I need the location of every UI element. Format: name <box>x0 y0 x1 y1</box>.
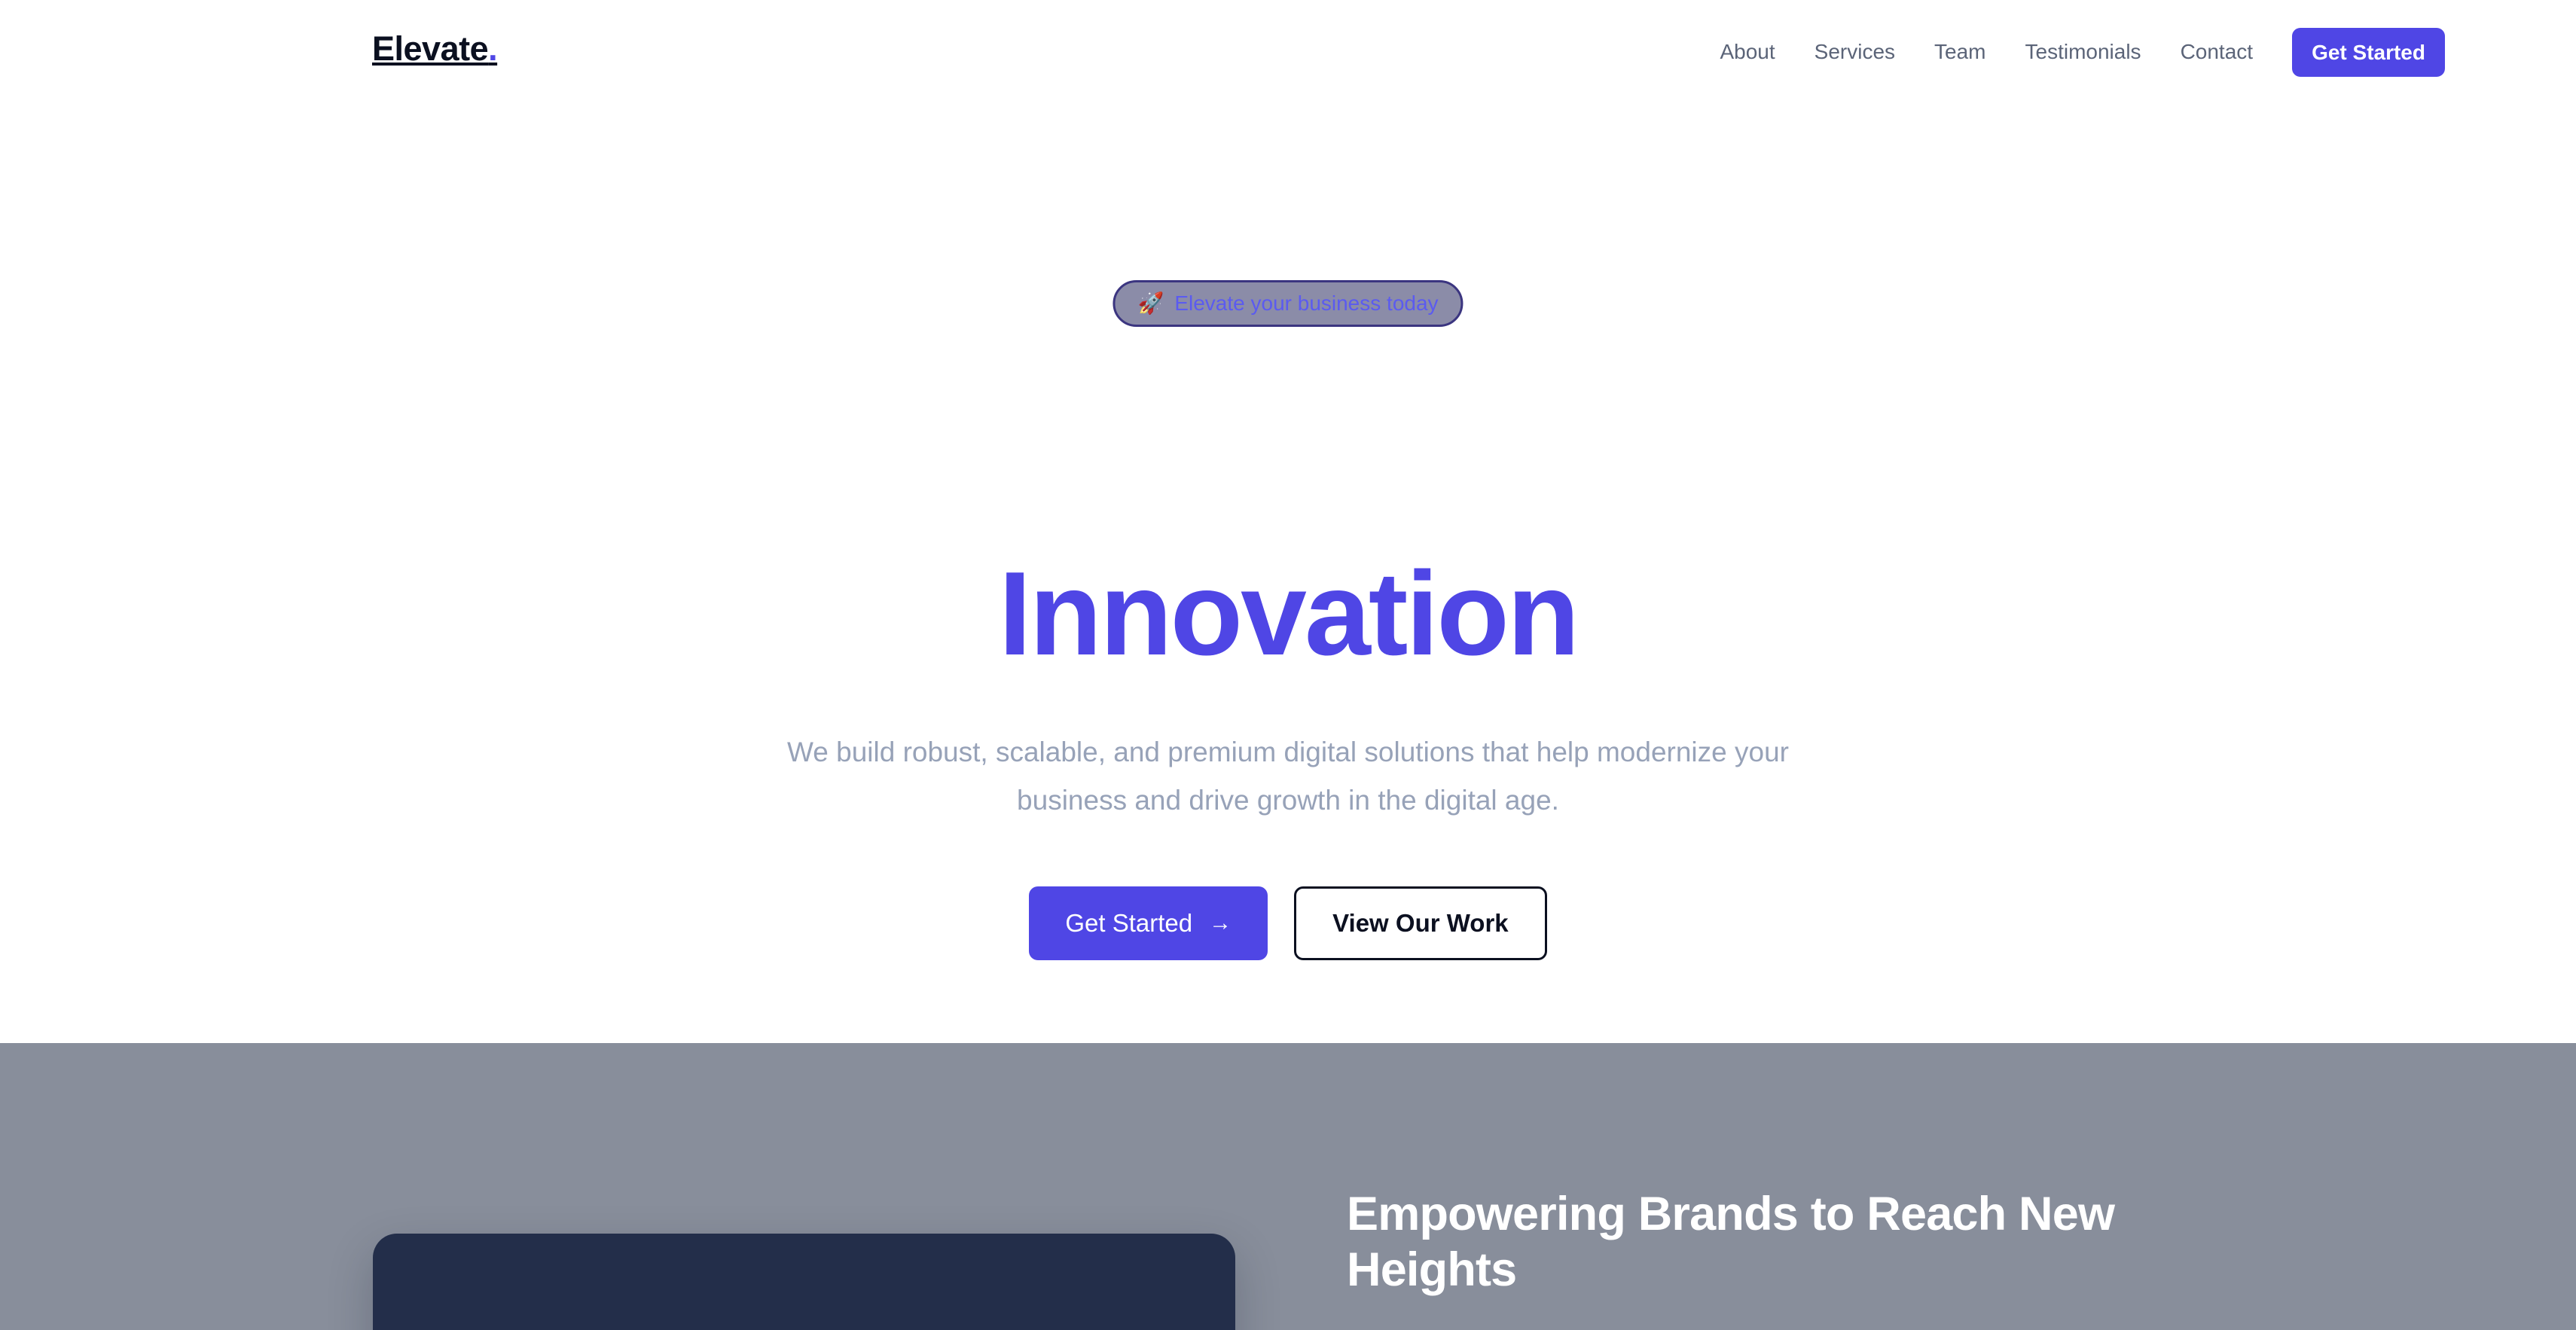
feature-media-card <box>373 1234 1235 1330</box>
hero-badge-label: Elevate your business today <box>1174 293 1438 314</box>
hero-view-our-work-button[interactable]: View Our Work <box>1294 886 1547 960</box>
landing-page: Elevate. About Services Team Testimonial… <box>0 0 2576 1330</box>
nav-item-about[interactable]: About <box>1700 26 1794 78</box>
header-get-started-button[interactable]: Get Started <box>2292 28 2445 77</box>
brand-logo[interactable]: Elevate. <box>372 32 497 66</box>
hero-actions: Get Started → View Our Work <box>0 886 2576 960</box>
site-header: Elevate. About Services Team Testimonial… <box>0 0 2576 114</box>
brand-dot: . <box>488 29 497 68</box>
nav-item-services[interactable]: Services <box>1795 26 1915 78</box>
hero-get-started-label: Get Started <box>1065 909 1192 938</box>
brand-name: Elevate <box>372 29 488 68</box>
feature-copy: Empowering Brands to Reach New Heights <box>1347 1186 2288 1298</box>
hero-title: Innovation <box>0 551 2576 677</box>
nav-item-contact[interactable]: Contact <box>2161 26 2273 78</box>
arrow-right-icon: → <box>1209 912 1232 935</box>
hero-badge[interactable]: 🚀 Elevate your business today <box>1113 280 1463 327</box>
hero-section: 🚀 Elevate your business today Innovation… <box>0 114 2576 1043</box>
main-navigation: About Services Team Testimonials Contact… <box>1700 26 2445 78</box>
nav-item-testimonials[interactable]: Testimonials <box>2006 26 2161 78</box>
rocket-icon: 🚀 <box>1137 293 1164 314</box>
hero-get-started-button[interactable]: Get Started → <box>1029 886 1268 960</box>
feature-heading: Empowering Brands to Reach New Heights <box>1347 1186 2288 1298</box>
empowering-brands-section: Empowering Brands to Reach New Heights <box>0 1043 2576 1330</box>
hero-subtitle: We build robust, scalable, and premium d… <box>761 728 1815 825</box>
nav-item-team[interactable]: Team <box>1915 26 2005 78</box>
